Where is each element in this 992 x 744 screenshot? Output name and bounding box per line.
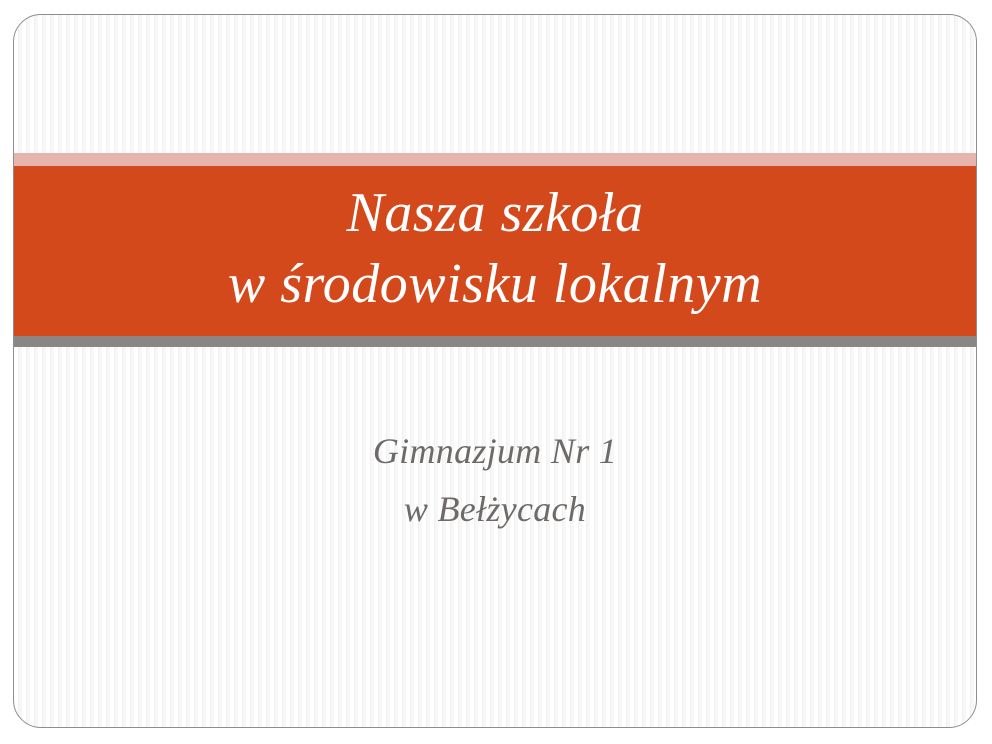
slide-title-line-1: Nasza szkoła	[347, 178, 644, 249]
slide-canvas: Nasza szkoła w środowisku lokalnym Gimna…	[13, 14, 977, 728]
title-banner: Nasza szkoła w środowisku lokalnym	[14, 153, 976, 347]
pink-accent-bar	[14, 153, 976, 166]
slide-title-line-2: w środowisku lokalnym	[228, 249, 762, 320]
slide-subtitle-line-1: Gimnazjum Nr 1	[14, 423, 976, 481]
slide-subtitle: Gimnazjum Nr 1 w Bełżycach	[14, 423, 976, 538]
gray-accent-bar	[14, 336, 976, 347]
title-band: Nasza szkoła w środowisku lokalnym	[14, 166, 976, 336]
slide-subtitle-line-2: w Bełżycach	[14, 481, 976, 539]
